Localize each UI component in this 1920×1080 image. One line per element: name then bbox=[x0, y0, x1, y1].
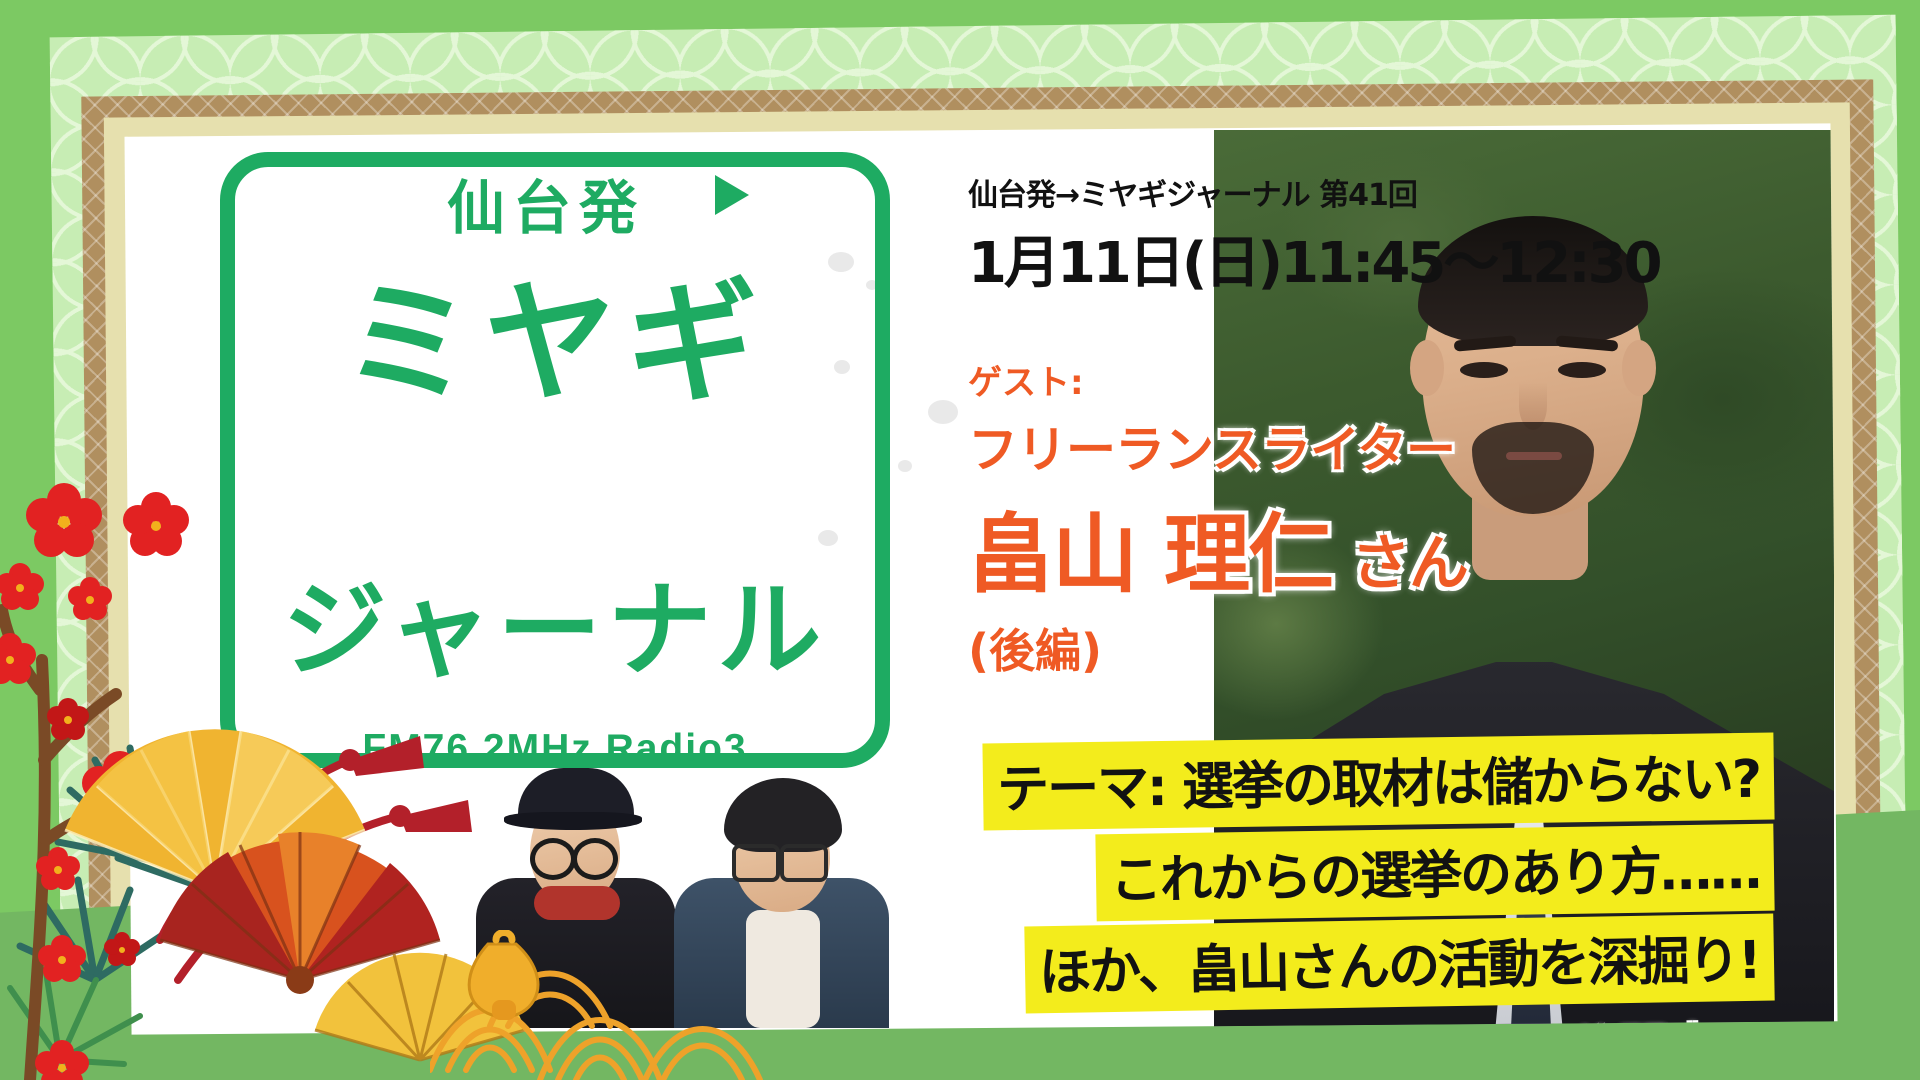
logo-line-1: ミヤギ bbox=[235, 271, 875, 419]
theme-row-1: テーマ: 選挙の取材は儲からない? bbox=[128, 738, 1834, 825]
episode-line: 仙台発→ミヤギジャーナル 第41回 bbox=[968, 170, 1608, 214]
theme-row-3: ほか、畠山さんの活動を深掘り! bbox=[128, 920, 1834, 1007]
theme-line-3: ほか、畠山さんの活動を深掘り! bbox=[1025, 913, 1775, 1013]
speckle-decoration bbox=[928, 400, 958, 424]
poster-canvas: 仙台発 ミヤギ ジャーナル FM76.2MHz Radio3 bbox=[0, 0, 1920, 1080]
guest-honorific: さん bbox=[1332, 529, 1467, 599]
program-logo-frame: 仙台発 ミヤギ ジャーナル FM76.2MHz Radio3 bbox=[220, 152, 890, 768]
theme-row-2: これからの選挙のあり方…… bbox=[128, 829, 1834, 916]
guest-label: ゲスト: bbox=[968, 355, 1608, 404]
guest-part-label: (後編) bbox=[968, 615, 1608, 681]
theme-block: テーマ: 選挙の取材は儲からない? これからの選挙のあり方…… ほか、畠山さんの… bbox=[128, 738, 1834, 1035]
guest-role: フリーランスライター bbox=[968, 410, 1608, 482]
logo-prefix-text: 仙台発 bbox=[447, 161, 645, 245]
white-card: 仙台発 ミヤギ ジャーナル FM76.2MHz Radio3 bbox=[124, 123, 1837, 1034]
guest-name: 畠山 理仁 bbox=[968, 505, 1332, 605]
logo-line-2: ジャーナル bbox=[235, 545, 875, 696]
theme-line-1: テーマ: 選挙の取材は儲からない? bbox=[982, 732, 1774, 830]
guest-name-row: 畠山 理仁 さん bbox=[968, 484, 1608, 609]
arrow-right-icon bbox=[715, 175, 749, 215]
broadcast-info: 仙台発→ミヤギジャーナル 第41回 1月11日(日)11:45〜12:30 ゲス… bbox=[968, 170, 1608, 681]
guest-ear-right bbox=[1622, 340, 1656, 396]
date-time-line: 1月11日(日)11:45〜12:30 bbox=[968, 218, 1608, 299]
speckle-decoration bbox=[898, 460, 912, 472]
theme-line-2: これからの選挙のあり方…… bbox=[1095, 824, 1774, 922]
